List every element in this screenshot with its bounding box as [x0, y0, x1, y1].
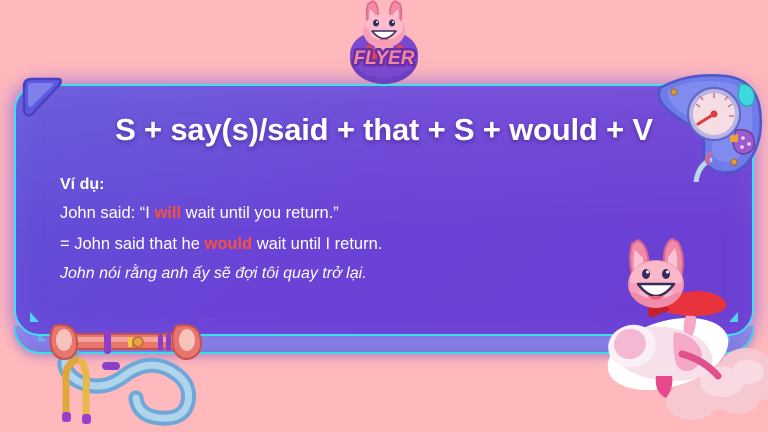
grammar-formula-title: S + say(s)/said + that + S + would + V: [14, 112, 754, 148]
foot-dot-left-icon: [54, 346, 78, 357]
quote-part-3: wait until you return.”: [181, 204, 339, 222]
panel-content: S + say(s)/said + that + S + would + V V…: [14, 84, 754, 336]
flyer-logo[interactable]: FLYER FLYER: [324, 0, 444, 88]
flyer-logo-text: FLYER: [354, 48, 415, 69]
translation-line: John nói rằng anh ấy sẽ đợi tôi quay trở…: [60, 266, 634, 282]
foot-dot-right-icon: [690, 346, 714, 357]
quote-part-1: John said: “I: [60, 204, 154, 222]
example-line-reported: = John said that he would wait until I r…: [60, 236, 634, 253]
reported-part-3: wait until I return.: [252, 235, 382, 253]
reported-highlight-would: would: [204, 235, 252, 253]
example-block: Ví dụ: John said: “I will wait until you…: [60, 176, 634, 282]
quote-highlight-will: will: [154, 204, 181, 222]
example-line-quote: John said: “I will wait until you return…: [60, 205, 634, 222]
example-label: Ví dụ:: [60, 176, 634, 194]
reported-part-1: = John said that he: [60, 235, 204, 253]
corner-tab-icon: [18, 76, 64, 118]
